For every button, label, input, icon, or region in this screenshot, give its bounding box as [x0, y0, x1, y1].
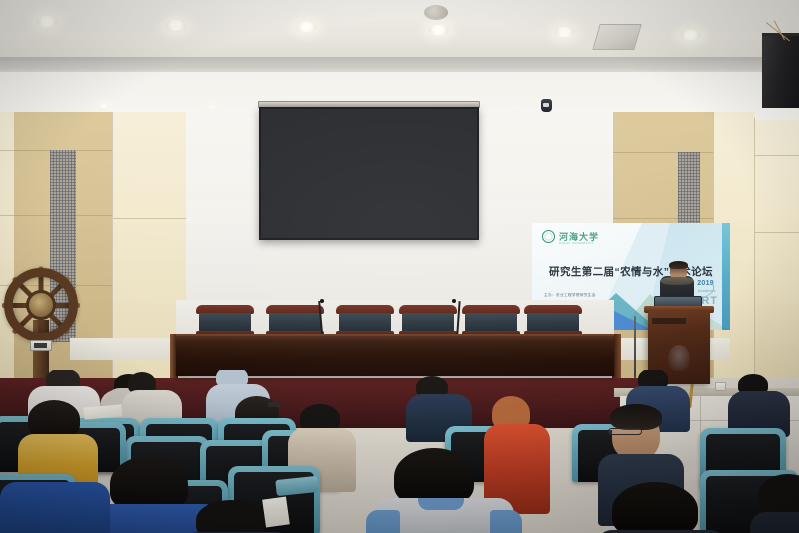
attendee-glasses	[267, 402, 281, 407]
wall-plaque-insert	[34, 343, 47, 348]
presenter-scarf	[661, 277, 693, 285]
attendee-hair	[610, 404, 662, 430]
audience-area	[0, 370, 799, 533]
attendee-glasses-icon	[608, 428, 642, 435]
attendee-notebook	[262, 496, 290, 527]
downlight-icon	[165, 20, 187, 31]
podium-emblem	[668, 345, 690, 371]
attendee-hair	[612, 482, 698, 533]
downlight-icon	[36, 16, 58, 27]
ceiling-air-vent	[592, 24, 641, 50]
attendee-body	[750, 512, 799, 533]
chair-seat-pad	[339, 313, 391, 332]
podium-control-plate[interactable]	[652, 318, 686, 324]
attendee-hair	[28, 400, 80, 438]
slide-title: 研究生第二届“农情与水”学术论坛	[538, 264, 724, 279]
chair-seat-pad	[402, 313, 454, 332]
attendee-hair	[196, 500, 266, 533]
downlight-icon	[680, 30, 701, 40]
security-camera-lens	[543, 103, 549, 107]
attendee-body	[0, 482, 110, 533]
attendee-collar	[418, 498, 464, 510]
university-logo-subtext: HOHAI UNIVERSITY	[559, 241, 594, 245]
panel-seam	[755, 232, 799, 233]
wall-panel-left-outer	[0, 112, 14, 378]
attendee-shirt-sleeve	[490, 510, 522, 533]
downlight-icon	[428, 25, 449, 35]
panel-seam	[754, 118, 755, 378]
ships-wheel-hub	[26, 290, 56, 320]
slide-subtitle: 主办：农业工程学院研究生会	[544, 293, 596, 298]
panel-seam	[113, 218, 186, 219]
panel-seam	[755, 155, 799, 156]
conference-hall-photo: 河海大学 HOHAI UNIVERSITY 研究生第二届“农情与水”学术论坛 主…	[0, 0, 799, 533]
projection-screen[interactable]: 河海大学 HOHAI UNIVERSITY 研究生第二届“农情与水”学术论坛 主…	[259, 107, 479, 240]
wall-panel-right-outer	[755, 120, 799, 378]
table-microphone-head	[452, 299, 456, 303]
attendee-shirt-sleeve	[366, 510, 400, 533]
downlight-icon	[554, 27, 575, 37]
downlight-icon	[296, 22, 317, 32]
chair-seat-pad	[199, 313, 251, 332]
chair-seat-pad	[269, 313, 321, 332]
university-logo-icon	[542, 230, 555, 243]
presenter-hair	[669, 261, 688, 269]
chair-seat-pad	[527, 313, 579, 332]
podium-cable	[634, 316, 636, 378]
ceiling	[0, 0, 799, 62]
table-microphone-head	[320, 299, 324, 303]
chair-seat-pad	[465, 313, 517, 332]
ceiling-dome-fixture	[424, 5, 448, 20]
